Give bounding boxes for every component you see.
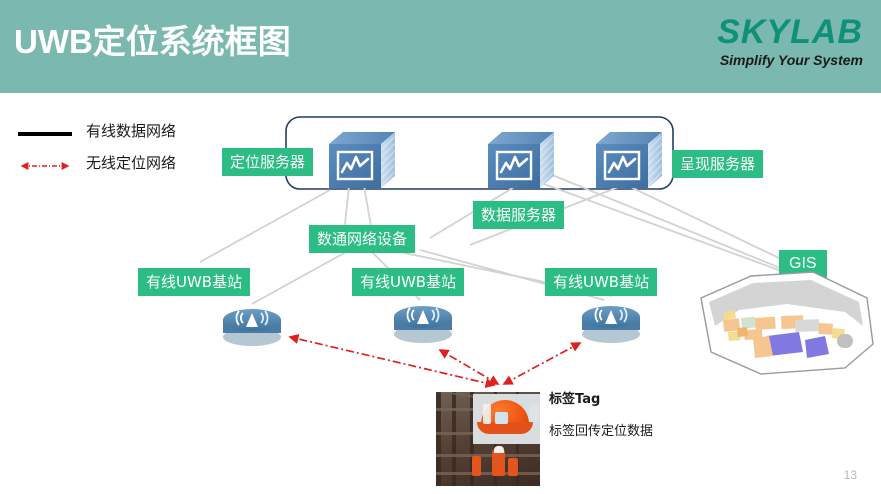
gis-map[interactable] [695, 268, 881, 376]
slide: UWB定位系统框图 SKYLAB Simplify Your System 有线… [0, 0, 881, 494]
label-positioning-server: 定位服务器 [222, 148, 313, 176]
server-icon-presentation[interactable] [592, 128, 666, 194]
base-station-icon-1[interactable] [221, 303, 283, 349]
tag-subtitle: 标签回传定位数据 [549, 420, 653, 439]
base-station-icon-3[interactable] [580, 300, 642, 346]
label-data-server: 数据服务器 [473, 201, 564, 229]
label-network-device: 数通网络设备 [309, 225, 415, 253]
server-icon-data[interactable] [484, 128, 558, 194]
label-base-station-1: 有线UWB基站 [138, 268, 250, 296]
page-number: 13 [844, 468, 857, 482]
tag-helmet-inset [473, 394, 540, 444]
label-base-station-2: 有线UWB基站 [352, 268, 464, 296]
server-icon-positioning[interactable] [325, 128, 399, 194]
label-presentation-server: 呈现服务器 [672, 150, 763, 178]
label-base-station-3: 有线UWB基站 [545, 268, 657, 296]
tag-title: 标签Tag [549, 388, 600, 407]
base-station-icon-2[interactable] [392, 300, 454, 346]
